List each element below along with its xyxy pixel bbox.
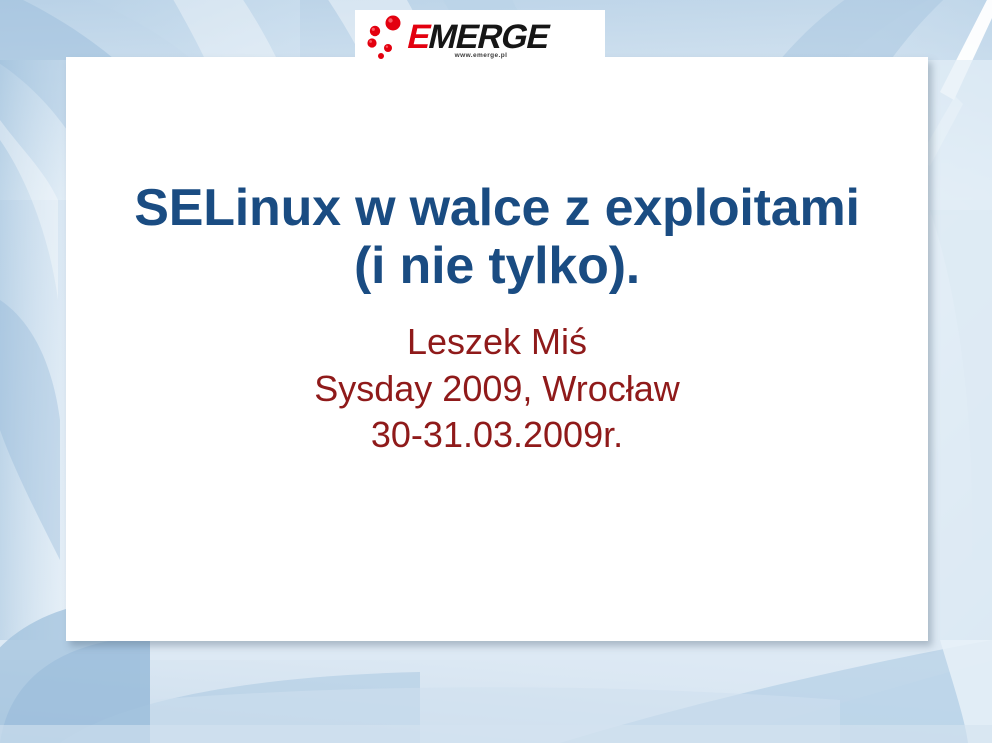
- emerge-logo-graphic: E MERGE www.emerge.pl: [359, 12, 603, 60]
- subtitle-date: 30-31.03.2009r.: [87, 412, 907, 458]
- slide-subtitle: Leszek Miś Sysday 2009, Wrocław 30-31.03…: [87, 319, 907, 457]
- subtitle-event: Sysday 2009, Wrocław: [87, 366, 907, 412]
- presentation-slide: E MERGE www.emerge.pl SELinux w walce z …: [0, 0, 992, 743]
- page-title: SELinux w walce z exploitami (i nie tylk…: [87, 179, 907, 295]
- slide-text-block: SELinux w walce z exploitami (i nie tylk…: [66, 57, 928, 641]
- logo-bubble-cluster: [367, 16, 400, 60]
- emerge-logo: E MERGE www.emerge.pl: [355, 10, 605, 62]
- subtitle-author: Leszek Miś: [87, 319, 907, 365]
- title-line-1: SELinux w walce z exploitami: [87, 179, 907, 237]
- title-line-2: (i nie tylko).: [87, 237, 907, 295]
- logo-url-text: www.emerge.pl: [454, 52, 508, 59]
- svg-text:MERGE: MERGE: [425, 18, 553, 56]
